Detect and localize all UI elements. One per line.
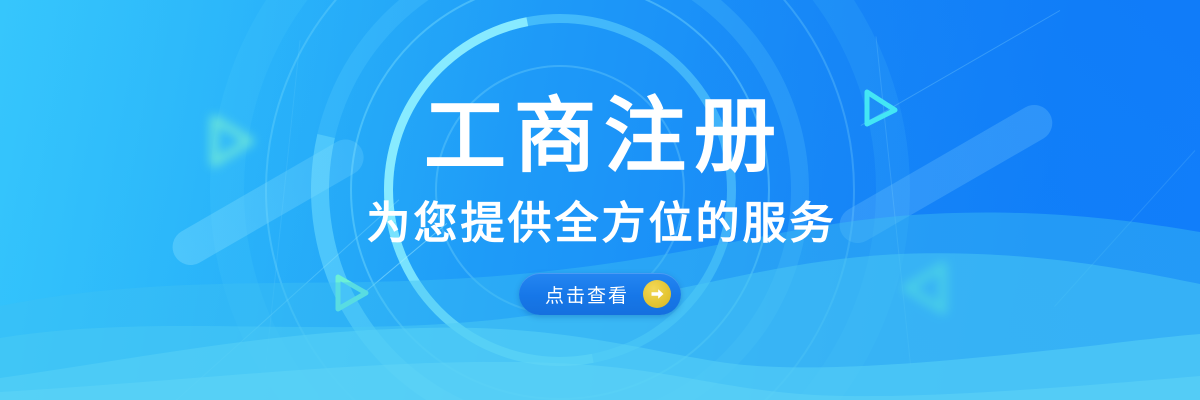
banner-subheadline: 为您提供全方位的服务 [364, 202, 837, 246]
banner-headline: 工商注册 [416, 96, 784, 178]
banner-content: 工商注册 为您提供全方位的服务 点击查看 [0, 0, 1200, 400]
promo-banner: 工商注册 为您提供全方位的服务 点击查看 [0, 0, 1200, 400]
click-to-view-button[interactable]: 点击查看 [519, 273, 681, 315]
arrow-right-circle-icon [643, 280, 671, 308]
click-to-view-label: 点击查看 [545, 281, 629, 308]
